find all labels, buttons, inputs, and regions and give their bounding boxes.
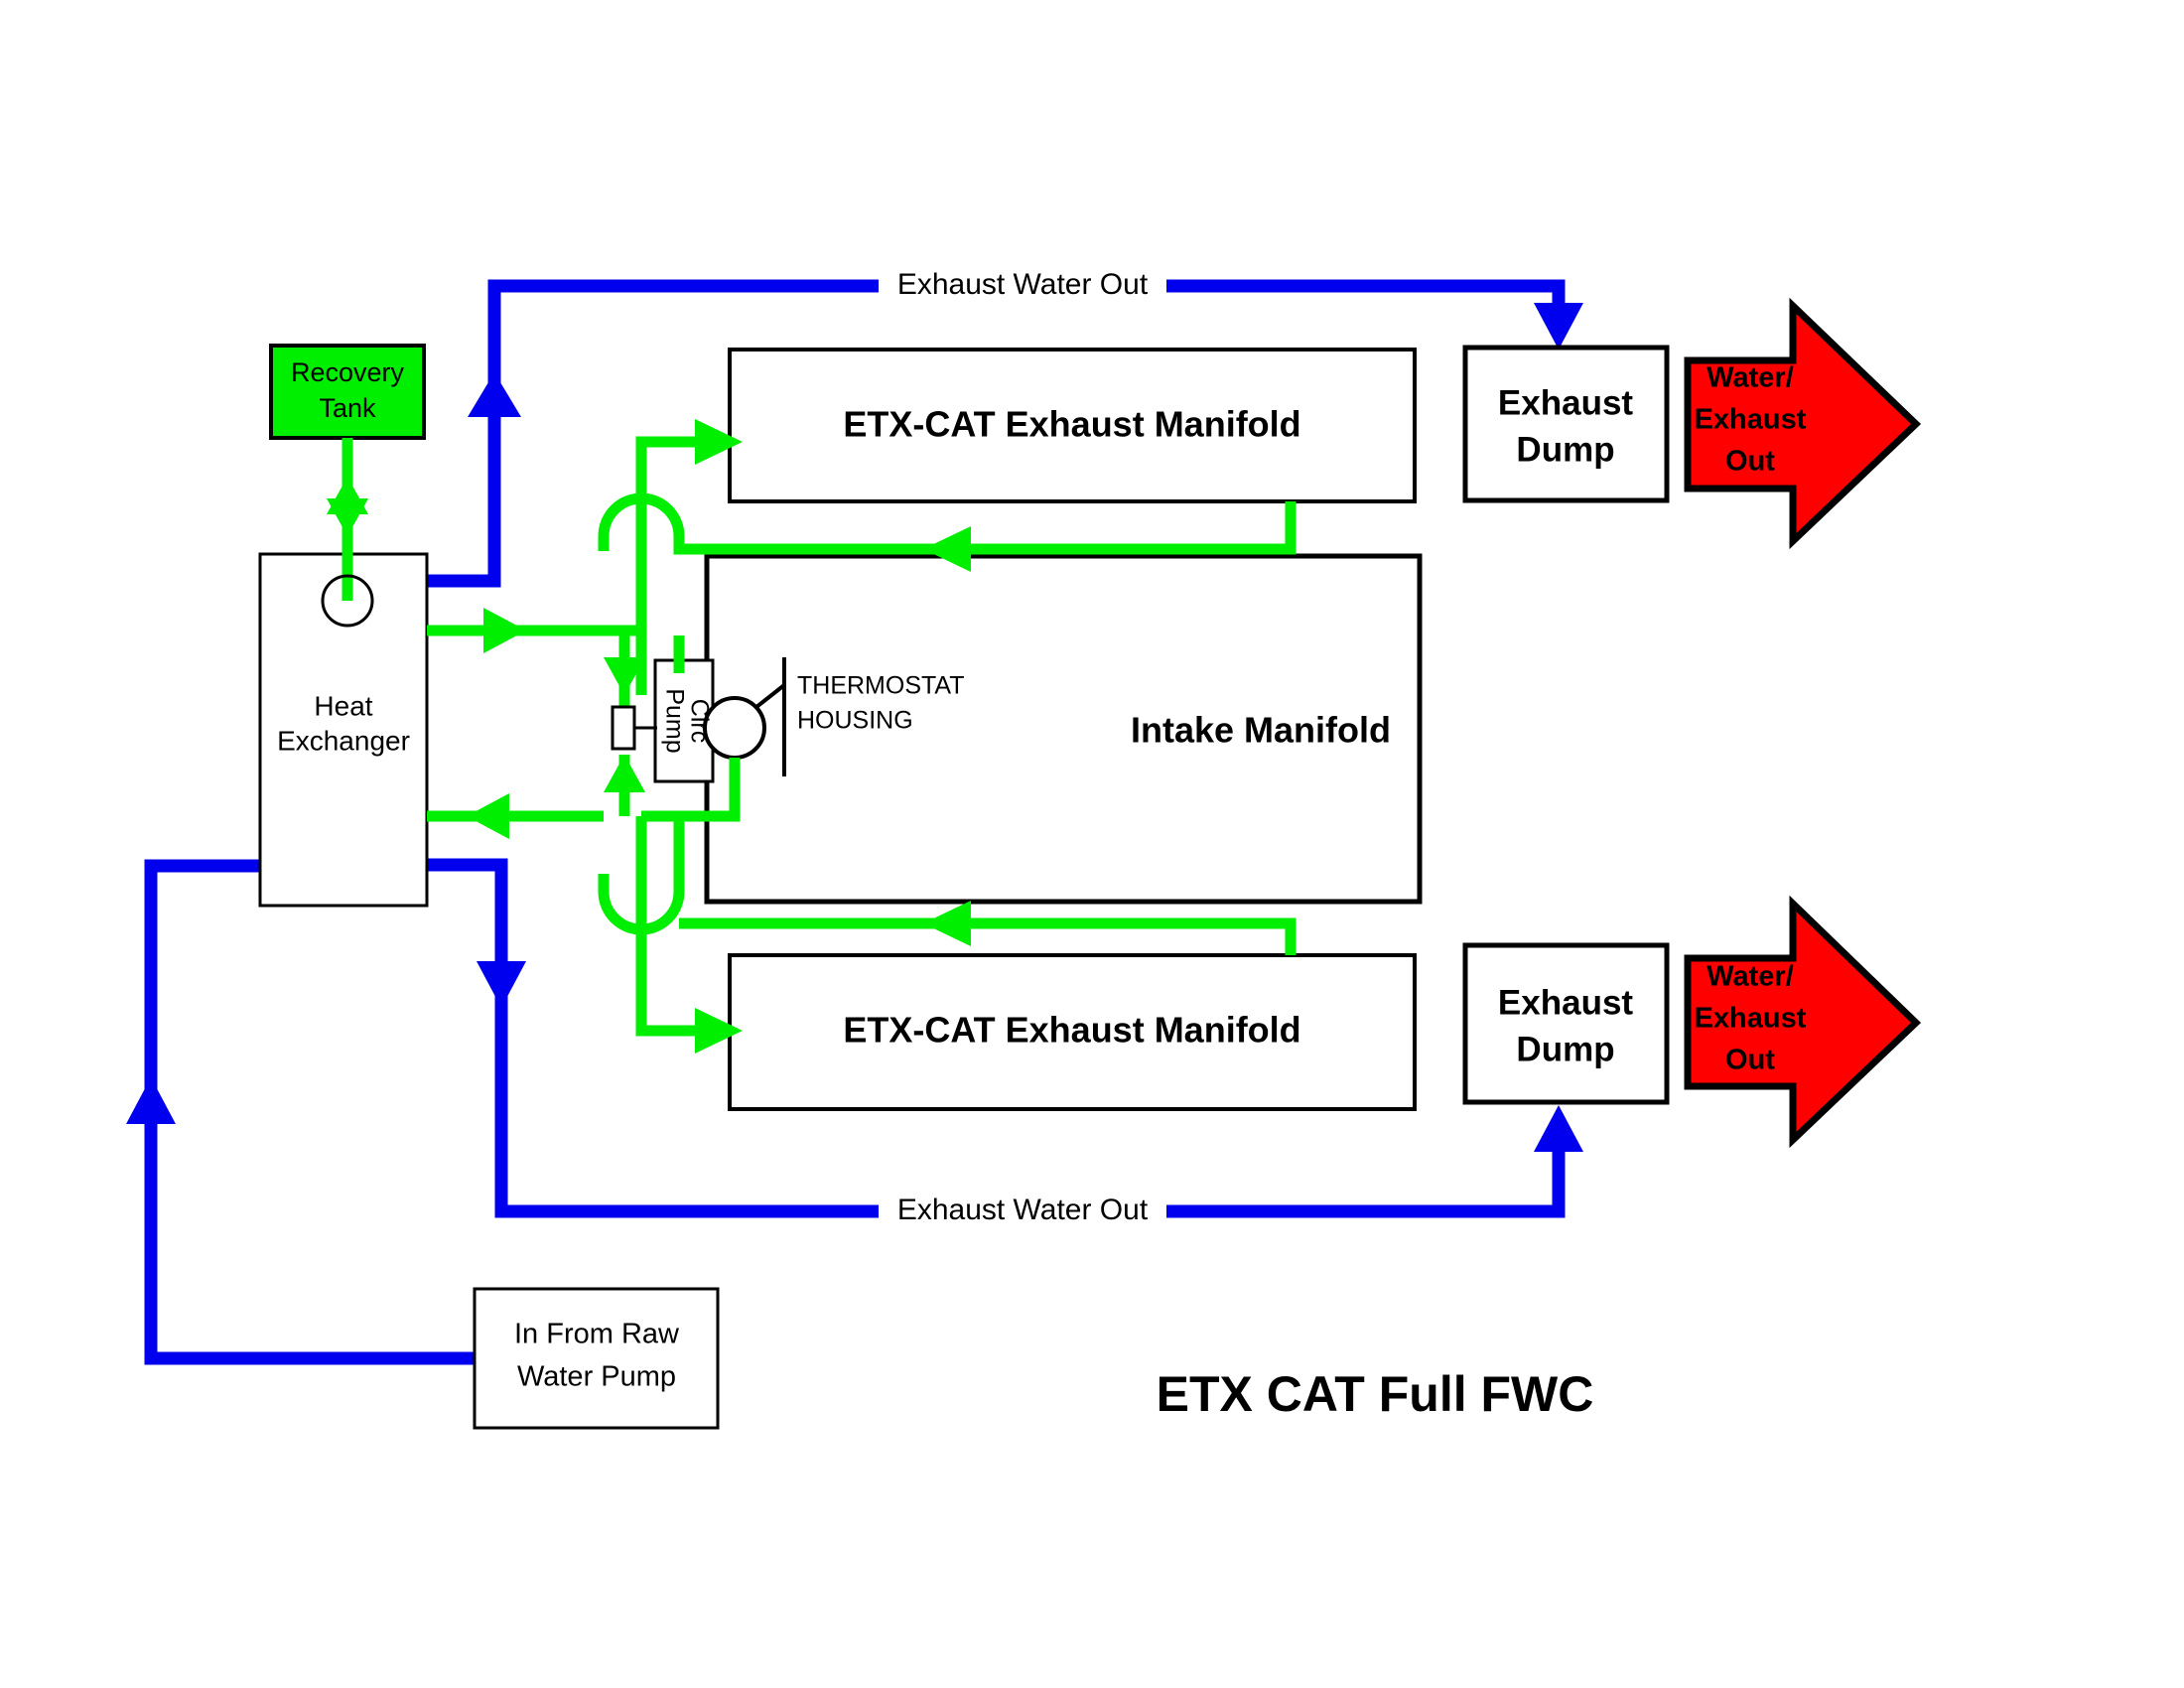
exhaust-manifold-bottom-label: ETX-CAT Exhaust Manifold [843,1010,1300,1051]
exhaust-dump-top-fill [1465,348,1667,500]
water-exhaust-out-top-label-1: Water/ [1706,362,1794,394]
green-pipe-return-top [735,501,1291,549]
blue-arrow-down-bottom [477,961,526,1008]
exhaust-dump-bottom-label-2: Dump [1516,1030,1614,1068]
exhaust-dump-top-label-1: Exhaust [1498,383,1633,422]
circ-pump-label-2: Pump [660,688,688,753]
water-exhaust-out-bottom-label-2: Exhaust [1695,1003,1807,1035]
green-pipe-hop-upper [604,498,735,551]
pump-fitting-symbol [613,707,634,749]
blue-arrow-up-bottom-dump [1534,1105,1583,1152]
circ-pump-label-1: Circ [685,699,713,743]
green-arrow-hx-return [467,793,509,839]
raw-water-pump-fill [475,1289,718,1428]
green-arrow-return-bottom [923,901,971,946]
green-arrow-down-recovery [327,498,368,536]
water-exhaust-out-top-label-2: Exhaust [1695,404,1807,436]
exhaust-dump-top-label-2: Dump [1516,430,1614,469]
blue-arrow-down-top-dump [1534,303,1583,350]
recovery-tank-label-1: Recovery [291,357,405,387]
component-outlines-group [260,348,1667,1428]
heat-exchanger-label-1: Heat [314,690,372,721]
water-exhaust-out-bottom-label-1: Water/ [1706,961,1794,993]
raw-water-pump-label-1: In From Raw [514,1319,680,1350]
recovery-tank-label-2: Tank [319,393,376,423]
raw-water-pump-label-2: Water Pump [517,1361,676,1393]
exhaust-dump-bottom-fill [1465,945,1667,1102]
heat-exchanger-label-2: Exchanger [277,725,410,756]
blue-arrow-up-top [468,372,521,417]
diagram-title: ETX CAT Full FWC [1157,1366,1594,1422]
water-exhaust-out-bottom-label-3: Out [1725,1045,1775,1076]
water-exhaust-out-top-label-3: Out [1725,446,1775,478]
exhaust-manifold-top-label: ETX-CAT Exhaust Manifold [843,404,1300,445]
exhaust-water-out-bottom-label: Exhaust Water Out [897,1194,1149,1226]
green-arrow-pump-outlet [604,755,645,792]
blue-arrow-up-inlet [126,1077,176,1124]
exhaust-dump-bottom-label-1: Exhaust [1498,983,1633,1022]
blue-pipe-inlet-run [151,866,475,1358]
exhaust-water-out-top-label: Exhaust Water Out [897,268,1149,301]
thermostat-label-2: HOUSING [797,707,913,735]
thermostat-label-1: THERMOSTAT [797,672,965,700]
schematic-diagram: Recovery Tank Heat Exchanger Circ Pump T… [0,0,2184,1688]
green-pipe-return-bottom [679,923,1291,955]
green-pipe-riser-top [641,442,695,631]
green-arrow-hx-out [483,608,526,653]
intake-manifold-label: Intake Manifold [1131,710,1391,751]
